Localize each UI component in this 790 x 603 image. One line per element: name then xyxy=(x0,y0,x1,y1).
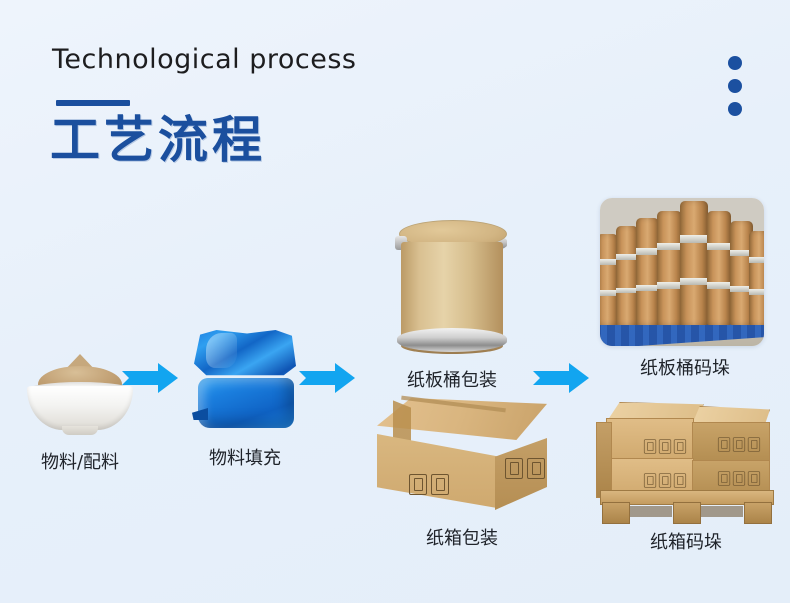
dot-2 xyxy=(728,79,742,93)
step-material-label: 物料/配料 xyxy=(12,448,148,474)
shipping-symbols-stack-lower-right xyxy=(718,471,760,485)
flow-arrow-3 xyxy=(533,362,599,394)
process-infographic: Technological process 工艺流程 物料/配料 物料填充 xyxy=(0,0,790,603)
flow-arrow-1 xyxy=(122,362,188,394)
three-dots-vertical-icon[interactable] xyxy=(728,56,742,116)
title-underline-rule xyxy=(56,100,130,106)
step-carton-packing[interactable]: 纸箱包装 xyxy=(372,398,552,550)
stacked-drums-photo xyxy=(600,198,764,346)
shipping-symbols-stack-upper xyxy=(644,439,686,453)
palletized-cartons-icon xyxy=(596,396,776,524)
step-drum-palletizing-label: 纸板桶码垛 xyxy=(600,354,770,380)
step-filling-label: 物料填充 xyxy=(180,444,310,470)
blue-plastic-bag-icon xyxy=(190,330,300,430)
dot-1 xyxy=(728,56,742,70)
shipping-symbols-stack-lower xyxy=(644,473,686,487)
carton-box-icon xyxy=(377,398,547,518)
step-drum-palletizing[interactable]: 纸板桶码垛 xyxy=(600,198,770,380)
dot-3 xyxy=(728,102,742,116)
step-carton-packing-label: 纸箱包装 xyxy=(372,524,552,550)
step-filling[interactable]: 物料填充 xyxy=(180,330,310,470)
wooden-pallet xyxy=(600,490,772,524)
shipping-symbols-stack-right xyxy=(718,437,760,451)
step-carton-palletizing-label: 纸箱码垛 xyxy=(596,528,776,554)
page-title-chinese: 工艺流程 xyxy=(50,114,266,167)
shipping-symbols-side xyxy=(505,458,545,479)
shipping-symbols-front xyxy=(409,474,449,495)
fiber-drum-icon xyxy=(393,218,511,358)
page-title-english: Technological process xyxy=(52,44,357,75)
step-drum-packing[interactable]: 纸板桶包装 xyxy=(372,218,532,392)
step-carton-palletizing[interactable]: 纸箱码垛 xyxy=(596,396,776,554)
step-drum-packing-label: 纸板桶包装 xyxy=(372,366,532,392)
flow-arrow-2 xyxy=(299,362,365,394)
